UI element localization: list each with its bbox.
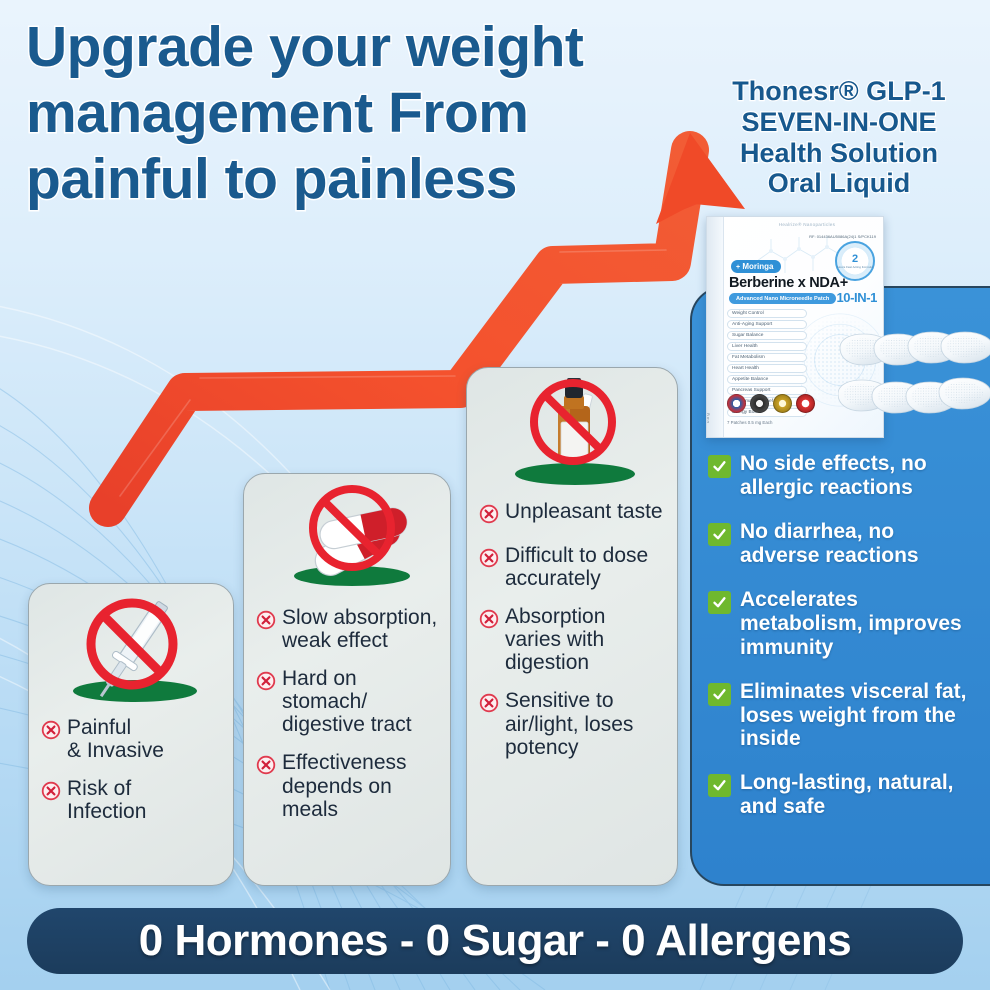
drawback-card-pills: Slow absorption, weak effect Hard on sto… bbox=[243, 473, 451, 886]
card-drawbacks: Unpleasant taste Difficult to dose accur… bbox=[479, 500, 665, 759]
red-x-icon bbox=[41, 781, 61, 806]
benefit-item: No side effects, no allergic reactions bbox=[708, 452, 978, 500]
fda-seal-icon bbox=[773, 394, 792, 413]
red-x-icon bbox=[256, 610, 276, 635]
drawback-text: Hard on stomach/ digestive tract bbox=[282, 667, 438, 736]
drawback-text: Sensitive to air/light, loses potency bbox=[505, 689, 665, 758]
fast-acting-number: 2 bbox=[852, 254, 858, 265]
box-feature-item: Liver Health bbox=[727, 342, 807, 351]
drawback-item: Hard on stomach/ digestive tract bbox=[256, 667, 438, 736]
drawback-item: Slow absorption, weak effect bbox=[256, 606, 438, 652]
benefit-text: Eliminates visceral fat, loses weight fr… bbox=[740, 680, 978, 752]
product-title: Thonesr® GLP-1 SEVEN-IN-ONE Health Solut… bbox=[690, 76, 988, 199]
drawback-item: Risk of Infection bbox=[41, 777, 221, 823]
green-check-icon bbox=[708, 591, 731, 614]
drawback-item: Sensitive to air/light, loses potency bbox=[479, 689, 665, 758]
drawback-item: Unpleasant taste bbox=[479, 500, 665, 529]
green-check-icon bbox=[708, 774, 731, 797]
drawback-item: Effectiveness depends on meals bbox=[256, 751, 438, 820]
box-side-text: 0.5 g bbox=[706, 413, 710, 423]
bottom-banner: 0 Hormones - 0 Sugar - 0 Allergens bbox=[27, 908, 963, 974]
card-drawbacks: Slow absorption, weak effect Hard on sto… bbox=[256, 606, 438, 821]
headline-line-2: management From bbox=[26, 80, 686, 146]
drawback-text: Difficult to dose accurately bbox=[505, 544, 665, 590]
box-feature-item: Weight Control bbox=[727, 309, 807, 318]
moringa-label: Moringa bbox=[742, 262, 773, 271]
gmp-seal-icon bbox=[750, 394, 769, 413]
box-feature-item: Appetite Balance bbox=[727, 375, 807, 384]
benefit-item: Eliminates visceral fat, loses weight fr… bbox=[708, 680, 978, 752]
no-syringe-icon bbox=[41, 594, 221, 712]
benefit-item: Long-lasting, natural, and safe bbox=[708, 771, 978, 819]
drawback-text: Unpleasant taste bbox=[505, 500, 663, 523]
green-check-icon bbox=[708, 683, 731, 706]
certification-seals bbox=[727, 394, 815, 413]
product-title-line-4: Oral Liquid bbox=[690, 168, 988, 199]
card-drawbacks: Painful & Invasive Risk of Infection bbox=[41, 716, 221, 823]
drawback-item: Absorption varies with digestion bbox=[479, 605, 665, 674]
headline-line-1: Upgrade your weight bbox=[26, 14, 686, 80]
box-feature-item: Anti-Aging Support bbox=[727, 320, 807, 329]
usa-seal-icon bbox=[727, 394, 746, 413]
benefit-item: No diarrhea, no adverse reactions bbox=[708, 520, 978, 568]
red-x-icon bbox=[41, 720, 61, 745]
drawback-text: Painful & Invasive bbox=[67, 716, 164, 762]
drawback-item: Difficult to dose accurately bbox=[479, 544, 665, 590]
drawback-text: Absorption varies with digestion bbox=[505, 605, 665, 674]
box-subtitle: Advanced Nano Microneedle Patch bbox=[729, 293, 836, 304]
box-feature-item: Sugar Balance bbox=[727, 331, 807, 340]
box-spine bbox=[707, 217, 724, 437]
fast-acting-text: Hours Fast Acting Formula bbox=[837, 266, 873, 269]
benefit-text: No side effects, no allergic reactions bbox=[740, 452, 978, 500]
green-check-icon bbox=[708, 455, 731, 478]
drawback-text: Risk of Infection bbox=[67, 777, 146, 823]
red-x-icon bbox=[479, 504, 499, 529]
green-check-icon bbox=[708, 523, 731, 546]
red-x-icon bbox=[256, 755, 276, 780]
box-brand-name: Berberine x NDA+ bbox=[729, 275, 848, 291]
drawback-card-oral-drops: Unpleasant taste Difficult to dose accur… bbox=[466, 367, 678, 886]
benefit-text: No diarrhea, no adverse reactions bbox=[740, 520, 978, 568]
drawback-text: Slow absorption, weak effect bbox=[282, 606, 438, 652]
natural-seal-icon bbox=[796, 394, 815, 413]
benefits-list: No side effects, no allergic reactions N… bbox=[708, 452, 978, 819]
moringa-badge: + Moringa bbox=[731, 260, 781, 273]
benefit-item: Accelerates metabolism, improves immunit… bbox=[708, 588, 978, 660]
red-x-icon bbox=[479, 548, 499, 573]
drawback-text: Effectiveness depends on meals bbox=[282, 751, 438, 820]
headline-line-3: painful to painless bbox=[26, 146, 686, 212]
no-dropper-bottle-icon bbox=[479, 378, 665, 496]
microneedle-patches-image bbox=[838, 330, 990, 442]
red-x-icon bbox=[479, 609, 499, 634]
drawback-card-injection: Painful & Invasive Risk of Infection bbox=[28, 583, 234, 886]
product-title-line-3: Health Solution bbox=[690, 138, 988, 169]
product-title-line-2: SEVEN-IN-ONE bbox=[690, 107, 988, 138]
benefit-text: Accelerates metabolism, improves immunit… bbox=[740, 588, 978, 660]
red-x-icon bbox=[256, 671, 276, 696]
box-top-line: Healrize® Nanoparticles bbox=[737, 222, 877, 227]
box-footer-text: 7 Patches 0.5 mg Each bbox=[727, 420, 772, 425]
drawback-item: Painful & Invasive bbox=[41, 716, 221, 762]
no-pills-icon bbox=[256, 484, 438, 602]
box-feature-item: Fat Metabolism bbox=[727, 353, 807, 362]
product-title-line-1: Thonesr® GLP-1 bbox=[690, 76, 988, 107]
box-code: RF: 014436AU5086A(24)1 S/PCK119 bbox=[809, 234, 876, 240]
ten-in-one-label: 10-IN-1 bbox=[836, 290, 877, 305]
banner-text: 0 Hormones - 0 Sugar - 0 Allergens bbox=[139, 916, 851, 966]
benefit-text: Long-lasting, natural, and safe bbox=[740, 771, 978, 819]
red-x-icon bbox=[479, 693, 499, 718]
page-headline: Upgrade your weight management From pain… bbox=[26, 14, 686, 212]
box-feature-item: Heart Health bbox=[727, 364, 807, 373]
